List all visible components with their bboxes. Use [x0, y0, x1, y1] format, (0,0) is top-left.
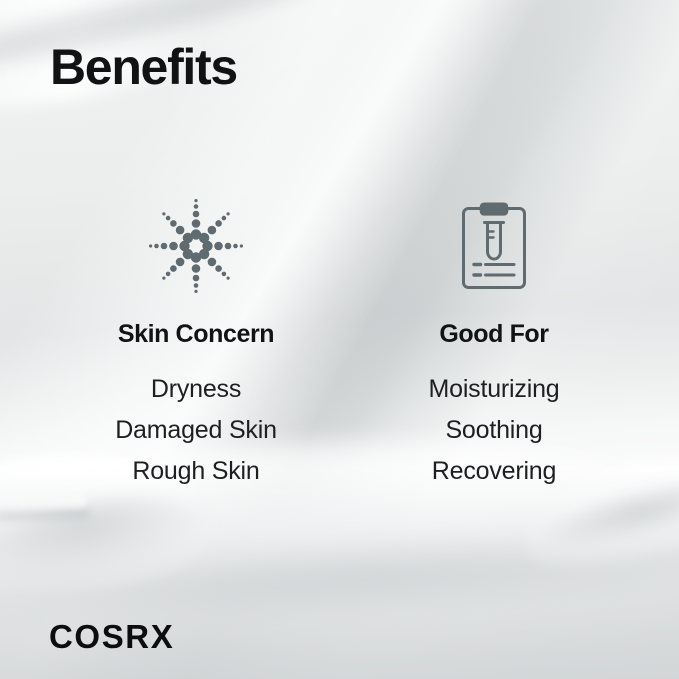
column-heading-skin-concern: Skin Concern: [118, 320, 274, 349]
benefit-columns: Skin Concern Dryness Damaged Skin Rough …: [0, 196, 679, 492]
benefit-list-skin-concern: Dryness Damaged Skin Rough Skin: [115, 369, 277, 492]
clipboard-test-tube-icon: [444, 196, 544, 296]
list-item: Moisturizing: [429, 369, 560, 410]
list-item: Soothing: [445, 410, 542, 451]
starburst-dots-icon: [146, 196, 246, 296]
brand-logo: COSRX: [49, 618, 174, 656]
list-item: Dryness: [151, 369, 241, 410]
list-item: Damaged Skin: [115, 410, 277, 451]
list-item: Rough Skin: [132, 451, 259, 492]
page-title: Benefits: [50, 40, 237, 95]
list-item: Recovering: [432, 451, 556, 492]
benefits-poster: Benefits: [0, 0, 679, 679]
benefit-column-good-for: Good For Moisturizing Soothing Recoverin…: [345, 196, 643, 492]
benefit-column-skin-concern: Skin Concern Dryness Damaged Skin Rough …: [47, 196, 345, 492]
column-heading-good-for: Good For: [439, 320, 548, 349]
benefit-list-good-for: Moisturizing Soothing Recovering: [429, 369, 560, 492]
poster-content: Benefits: [0, 0, 679, 679]
